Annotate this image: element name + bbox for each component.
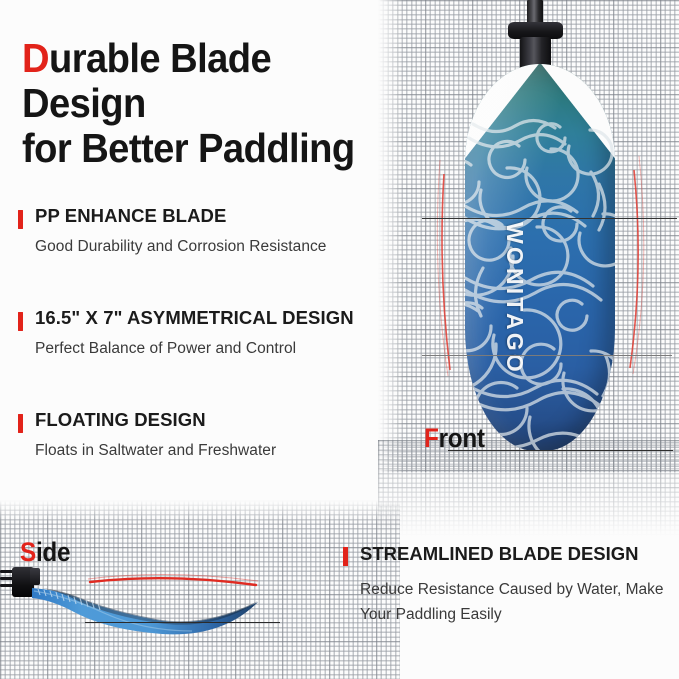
red-bar-marker-icon [18,312,23,331]
feature-title: 16.5" X 7" ASYMMETRICAL DESIGN [35,307,418,329]
measurement-line-bottom [422,355,672,356]
red-bar-marker-icon [18,414,23,433]
page-title-rest: urable Blade Design for Better Paddling [22,35,355,171]
measurement-line-top [422,218,677,219]
feature-item-floating-design: FLOATING DESIGN Floats in Saltwater and … [18,409,418,460]
feature-title: FLOATING DESIGN [35,409,418,431]
side-view-baseline [85,622,280,623]
page-title: Durable Blade Design for Better Paddling [22,36,368,171]
view-label-front: Front [424,423,485,454]
feature-description: Reduce Resistance Caused by Water, Make … [360,577,673,627]
view-label-front-rest: ront [439,423,485,453]
view-label-front-cap: F [424,423,439,453]
brand-logo-text: WONITAGO [501,222,528,375]
feature-item-asymmetrical-design: 16.5" X 7" ASYMMETRICAL DESIGN Perfect B… [18,307,418,358]
paddle-side-view [0,560,350,640]
feature-title: PP ENHANCE BLADE [35,205,418,227]
red-bar-marker-icon [18,210,23,229]
paddle-front-view: WONITAGO [410,0,679,470]
page-title-drop-cap: D [22,35,49,81]
feature-description: Perfect Balance of Power and Control [35,340,418,358]
paddle-side-profile [28,560,318,640]
infographic-canvas: Durable Blade Design for Better Paddling… [0,0,679,679]
feature-item-streamlined-blade-design: STREAMLINED BLADE DESIGN Reduce Resistan… [343,543,673,627]
feature-item-pp-enhance-blade: PP ENHANCE BLADE Good Durability and Cor… [18,205,418,256]
feature-description: Good Durability and Corrosion Resistance [35,238,418,256]
paddle-blade-front [465,64,615,451]
feature-title: STREAMLINED BLADE DESIGN [360,543,673,565]
wave-swirl-pattern-icon [465,64,615,451]
red-bar-marker-icon [343,547,348,566]
feature-description: Floats in Saltwater and Freshwater [35,442,418,460]
